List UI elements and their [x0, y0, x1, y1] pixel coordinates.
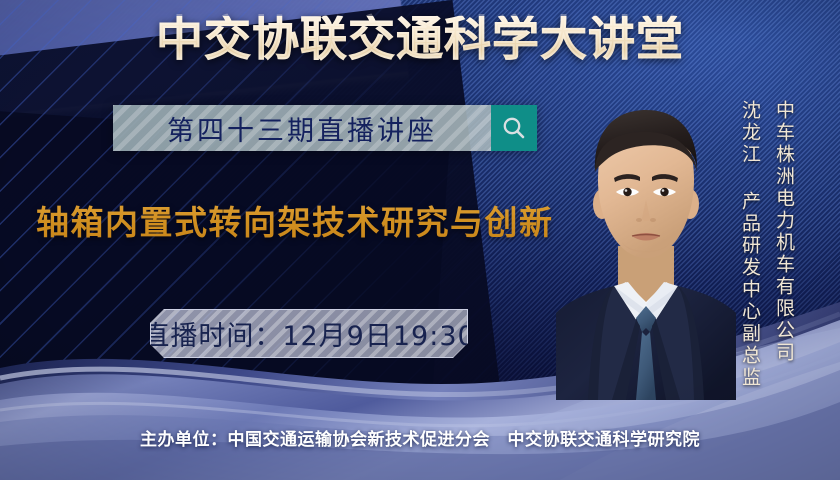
- live-time-label: 直播时间：12月9日19:30: [150, 314, 468, 353]
- speaker-name-title: 沈龙江 产品研发中心副总监: [737, 100, 764, 389]
- episode-label: 第四十三期直播讲座: [113, 105, 491, 151]
- search-icon[interactable]: [491, 105, 537, 151]
- page-title: 中交协联交通科学大讲堂: [0, 16, 840, 63]
- live-lecture-poster: 中交协联交通科学大讲堂 第四十三期直播讲座 轴箱内置式转向架技术研究与创新 直播…: [0, 0, 840, 480]
- organizer-footer: 主办单位：中国交通运输协会新技术促进分会 中交协联交通科学研究院: [0, 425, 840, 450]
- speaker-company: 中车株洲电力机车有限公司: [771, 100, 798, 364]
- lecture-title: 轴箱内置式转向架技术研究与创新: [36, 196, 554, 244]
- live-time-banner: 直播时间：12月9日19:30: [150, 309, 468, 358]
- episode-banner: 第四十三期直播讲座: [113, 105, 537, 151]
- speaker-portrait: [556, 96, 736, 400]
